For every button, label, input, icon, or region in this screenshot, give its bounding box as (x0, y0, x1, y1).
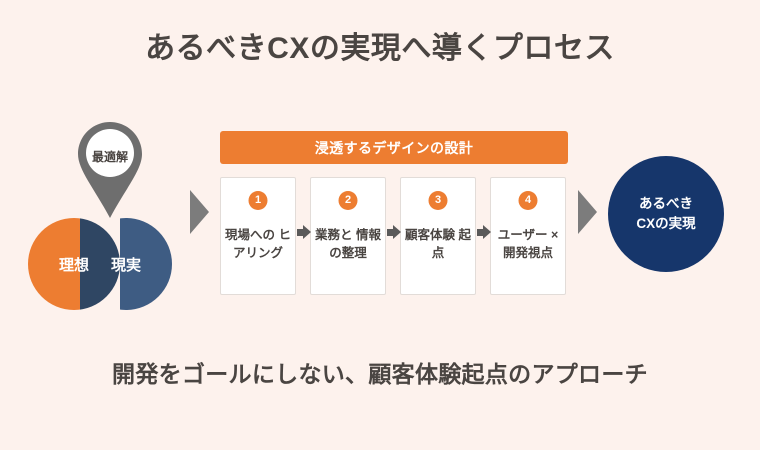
step-connector-arrow-icon (477, 225, 491, 239)
flow-arrow-into-process-icon (190, 190, 209, 234)
process-banner: 浸透するデザインの設計 (220, 131, 568, 164)
arrow-head (393, 225, 401, 239)
diagram-canvas: あるべきCXの実現へ導くプロセス 最適解 理想 現実 浸透するデザインの設計 1… (0, 0, 760, 450)
map-pin-icon (74, 118, 146, 222)
step-label: 業務と 情報の整理 (314, 226, 382, 262)
step-number-badge: 2 (339, 191, 358, 210)
flow-arrow-to-goal-icon (578, 190, 597, 234)
step-card[interactable]: 4 ユーザー ×開発視点 (490, 177, 566, 295)
arrow-head (483, 225, 491, 239)
process-banner-label: 浸透するデザインの設計 (315, 138, 473, 158)
process-steps: 1 現場への ヒアリング 2 業務と 情報の整理 3 顧客体験 起点 4 ユーザ… (220, 177, 568, 297)
step-number-badge: 3 (429, 191, 448, 210)
step-card[interactable]: 1 現場への ヒアリング (220, 177, 296, 295)
step-number-badge: 4 (519, 191, 538, 210)
pin-label: 最適解 (74, 148, 146, 165)
optimal-solution-pin: 最適解 (74, 118, 146, 222)
goal-circle: あるべき CXの実現 (608, 156, 724, 272)
venn-label-real: 現実 (80, 254, 172, 275)
step-card[interactable]: 2 業務と 情報の整理 (310, 177, 386, 295)
step-number-badge: 1 (249, 191, 268, 210)
step-connector-arrow-icon (387, 225, 401, 239)
arrow-head (303, 225, 311, 239)
step-label: 現場への ヒアリング (224, 226, 292, 262)
step-connector-arrow-icon (297, 225, 311, 239)
page-title: あるべきCXの実現へ導くプロセス (0, 23, 760, 67)
step-label: 顧客体験 起点 (404, 226, 472, 262)
goal-label: あるべき CXの実現 (636, 194, 695, 235)
venn-diagram: 理想 現実 (28, 218, 200, 310)
step-label: ユーザー ×開発視点 (494, 226, 562, 262)
page-caption: 開発をゴールにしない、顧客体験起点のアプローチ (0, 355, 760, 389)
step-card[interactable]: 3 顧客体験 起点 (400, 177, 476, 295)
